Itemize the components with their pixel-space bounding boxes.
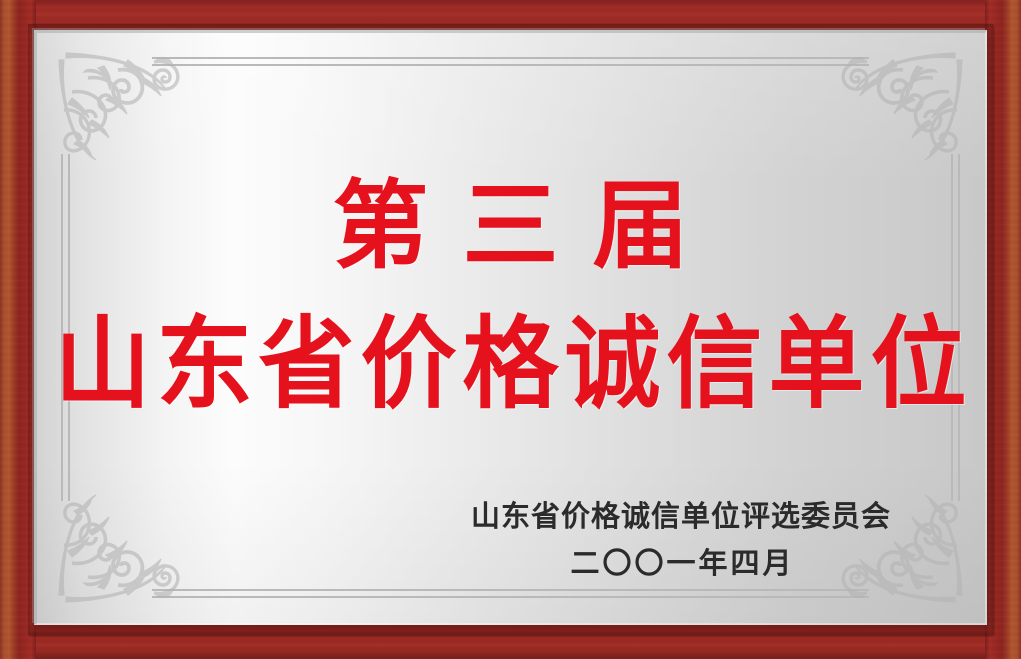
plaque-content: 第三届 山东省价格诚信单位 山东省价格诚信单位评选委员会 二〇〇一年四月 — [34, 30, 987, 625]
issuing-organization: 山东省价格诚信单位评选委员会 — [471, 498, 891, 535]
issue-date: 二〇〇一年四月 — [471, 545, 891, 582]
award-main-title: 山东省价格诚信单位 — [34, 314, 987, 414]
wood-grain-texture-right — [985, 0, 1021, 659]
frame-rail-left — [0, 0, 36, 659]
award-edition-title: 第三届 — [34, 178, 987, 274]
signature-block: 山东省价格诚信单位评选委员会 二〇〇一年四月 — [471, 498, 891, 582]
frame-rail-right — [985, 0, 1021, 659]
metal-plate: 第三届 山东省价格诚信单位 山东省价格诚信单位评选委员会 二〇〇一年四月 — [34, 30, 987, 625]
wood-grain-texture-left — [0, 0, 36, 659]
award-plaque: 第三届 山东省价格诚信单位 山东省价格诚信单位评选委员会 二〇〇一年四月 — [0, 0, 1021, 659]
